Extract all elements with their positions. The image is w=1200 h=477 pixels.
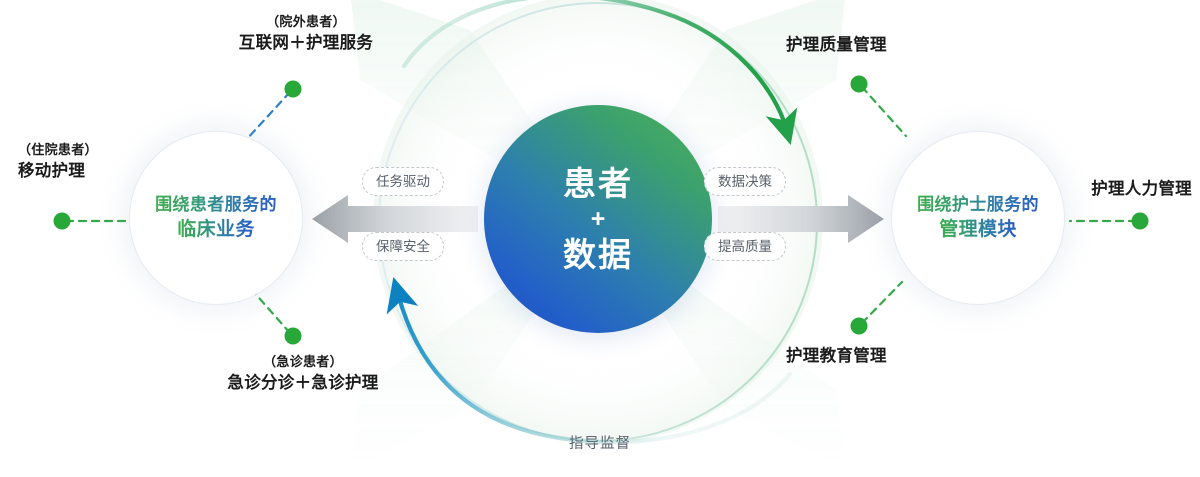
label-mobile-main: 移动护理 <box>18 160 168 184</box>
label-mobile-sub: （住院患者） <box>18 140 168 160</box>
label-quality-management-main: 护理质量管理 <box>786 34 1006 58</box>
label-mobile-nursing[interactable]: （住院患者） 移动护理 <box>18 140 168 183</box>
pill-ensure-safety[interactable]: 保障安全 <box>362 232 444 261</box>
center-line2: 数据 <box>563 238 633 271</box>
left-circle-line1: 围绕患者服务的 <box>155 193 277 216</box>
right-circle-line2: 管理模块 <box>939 217 1017 243</box>
center-plus: + <box>591 207 606 232</box>
node-management-module[interactable]: 围绕护士服务的 管理模块 <box>892 132 1064 304</box>
label-internet-main: 互联网＋护理服务 <box>182 32 430 56</box>
connector-quality-management <box>851 76 907 137</box>
connector-mobile <box>54 213 133 230</box>
node-patient-data[interactable]: 患者 + 数据 <box>484 105 712 333</box>
connector-internet <box>246 81 302 141</box>
label-human-resource-main: 护理人力管理 <box>1020 178 1192 202</box>
caption-guidance-supervision: 指导监督 <box>0 432 1200 453</box>
pill-improve-quality[interactable]: 提高质量 <box>704 232 786 261</box>
label-human-resource-management[interactable]: 护理人力管理 <box>1020 178 1192 202</box>
pill-task-driven[interactable]: 任务驱动 <box>362 167 444 196</box>
label-internet-nursing[interactable]: （院外患者） 互联网＋护理服务 <box>182 12 430 55</box>
connector-human-resource <box>1070 213 1149 230</box>
connector-education <box>851 282 903 335</box>
center-line1: 患者 <box>563 167 633 200</box>
label-education-main: 护理教育管理 <box>786 345 1006 369</box>
label-education-management[interactable]: 护理教育管理 <box>786 345 1006 369</box>
left-circle-line2: 临床业务 <box>177 217 255 243</box>
diagram-canvas: 围绕患者服务的 临床业务 围绕护士服务的 管理模块 患者 + 数据 任务驱动 保… <box>0 0 1200 477</box>
label-emergency-triage[interactable]: （急诊患者） 急诊分诊＋急诊护理 <box>178 352 428 395</box>
label-quality-management[interactable]: 护理质量管理 <box>786 34 1006 58</box>
label-emergency-main: 急诊分诊＋急诊护理 <box>178 372 428 396</box>
connector-emergency <box>252 290 302 345</box>
pill-data-decision[interactable]: 数据决策 <box>704 167 786 196</box>
label-internet-sub: （院外患者） <box>182 12 430 32</box>
label-emergency-sub: （急诊患者） <box>178 352 428 372</box>
